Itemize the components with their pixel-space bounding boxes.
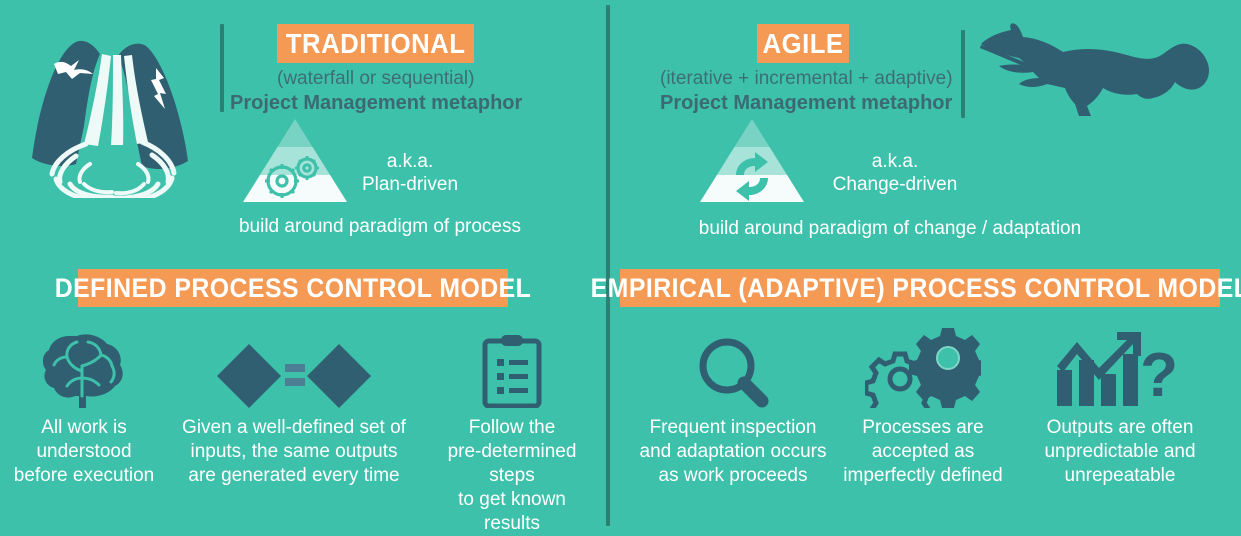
caption-line: inputs, the same outputs bbox=[176, 440, 412, 464]
banner-empirical-process-control-model: EMPIRICAL (ADAPTIVE) PROCESS CONTROL MOD… bbox=[620, 269, 1220, 307]
agile-subtitle-bold: Project Management metaphor bbox=[660, 92, 947, 115]
caption-line: Follow the bbox=[432, 416, 592, 440]
caption-line: pre-determined steps bbox=[432, 440, 592, 488]
traditional-aka-label: a.k.a. bbox=[330, 150, 490, 173]
caption-line: understood bbox=[8, 440, 160, 464]
badge-traditional-label: TRADITIONAL bbox=[286, 28, 466, 60]
banner-defined-process-control-model: DEFINED PROCESS CONTROL MODEL bbox=[78, 269, 508, 307]
caption-line: Processes are bbox=[838, 416, 1008, 440]
cell-processes-imperfectly-defined: Processes are accepted as imperfectly de… bbox=[838, 316, 1008, 488]
caption-line: to get known results bbox=[432, 488, 592, 536]
caption-line: accepted as bbox=[838, 440, 1008, 464]
caption-line: Frequent inspection bbox=[638, 416, 828, 440]
caption-line: as work proceeds bbox=[638, 464, 828, 488]
agile-aka-block: a.k.a. Change-driven bbox=[800, 150, 990, 196]
caption-line: All work is bbox=[8, 416, 160, 440]
cell-well-defined-inputs: Given a well-defined set of inputs, the … bbox=[176, 316, 412, 488]
cell-caption: Follow the pre-determined steps to get k… bbox=[432, 416, 592, 536]
badge-traditional: TRADITIONAL bbox=[277, 24, 474, 63]
brain-icon bbox=[8, 316, 160, 408]
badge-agile-label: AGILE bbox=[762, 28, 843, 60]
caption-line: Given a well-defined set of bbox=[176, 416, 412, 440]
bar-chart-question-icon: ? bbox=[1020, 316, 1220, 408]
gears-icon bbox=[838, 316, 1008, 408]
banner-defined-label: DEFINED PROCESS CONTROL MODEL bbox=[55, 273, 532, 304]
cell-all-work-understood: All work is understood before execution bbox=[8, 316, 160, 488]
agile-paradigm: build around paradigm of change / adapta… bbox=[640, 218, 1140, 240]
magnifier-icon bbox=[638, 316, 828, 408]
cell-caption: Given a well-defined set of inputs, the … bbox=[176, 416, 412, 488]
caption-line: and adaptation occurs bbox=[638, 440, 828, 464]
fox-icon bbox=[975, 22, 1211, 122]
cell-unpredictable-outputs: ? Outputs are often unpredictable and un… bbox=[1020, 316, 1220, 488]
agile-aka-label: a.k.a. bbox=[800, 150, 990, 173]
agile-subtitle: (iterative + incremental + adaptive) bbox=[660, 68, 947, 90]
caption-line: before execution bbox=[8, 464, 160, 488]
traditional-subtitle: (waterfall or sequential) bbox=[277, 68, 474, 90]
cell-caption: All work is understood before execution bbox=[8, 416, 160, 488]
waterfall-icon bbox=[14, 16, 206, 198]
caption-line: unrepeatable bbox=[1020, 464, 1220, 488]
clipboard-checklist-icon bbox=[432, 316, 592, 408]
equal-diamonds-icon bbox=[176, 316, 412, 408]
caption-line: Outputs are often bbox=[1020, 416, 1220, 440]
traditional-aka-block: a.k.a. Plan-driven bbox=[330, 150, 490, 196]
caption-line: are generated every time bbox=[176, 464, 412, 488]
cycle-pyramid-icon bbox=[700, 119, 804, 202]
center-divider bbox=[606, 5, 610, 526]
caption-line: unpredictable and bbox=[1020, 440, 1220, 464]
traditional-paradigm: build around paradigm of process bbox=[180, 216, 580, 238]
svg-text:?: ? bbox=[1140, 341, 1178, 408]
left-title-divider bbox=[220, 24, 224, 112]
infographic-canvas: TRADITIONAL (waterfall or sequential) Pr… bbox=[0, 0, 1241, 531]
right-title-divider bbox=[961, 30, 965, 118]
badge-agile: AGILE bbox=[757, 24, 849, 63]
traditional-aka-value: Plan-driven bbox=[330, 173, 490, 196]
cell-frequent-inspection: Frequent inspection and adaptation occur… bbox=[638, 316, 828, 488]
banner-empirical-label: EMPIRICAL (ADAPTIVE) PROCESS CONTROL MOD… bbox=[591, 273, 1241, 304]
cell-caption: Frequent inspection and adaptation occur… bbox=[638, 416, 828, 488]
cell-caption: Processes are accepted as imperfectly de… bbox=[838, 416, 1008, 488]
caption-line: imperfectly defined bbox=[838, 464, 1008, 488]
cell-caption: Outputs are often unpredictable and unre… bbox=[1020, 416, 1220, 488]
traditional-subtitle-bold: Project Management metaphor bbox=[230, 92, 520, 115]
agile-aka-value: Change-driven bbox=[800, 173, 990, 196]
cell-predetermined-steps: Follow the pre-determined steps to get k… bbox=[432, 316, 592, 536]
